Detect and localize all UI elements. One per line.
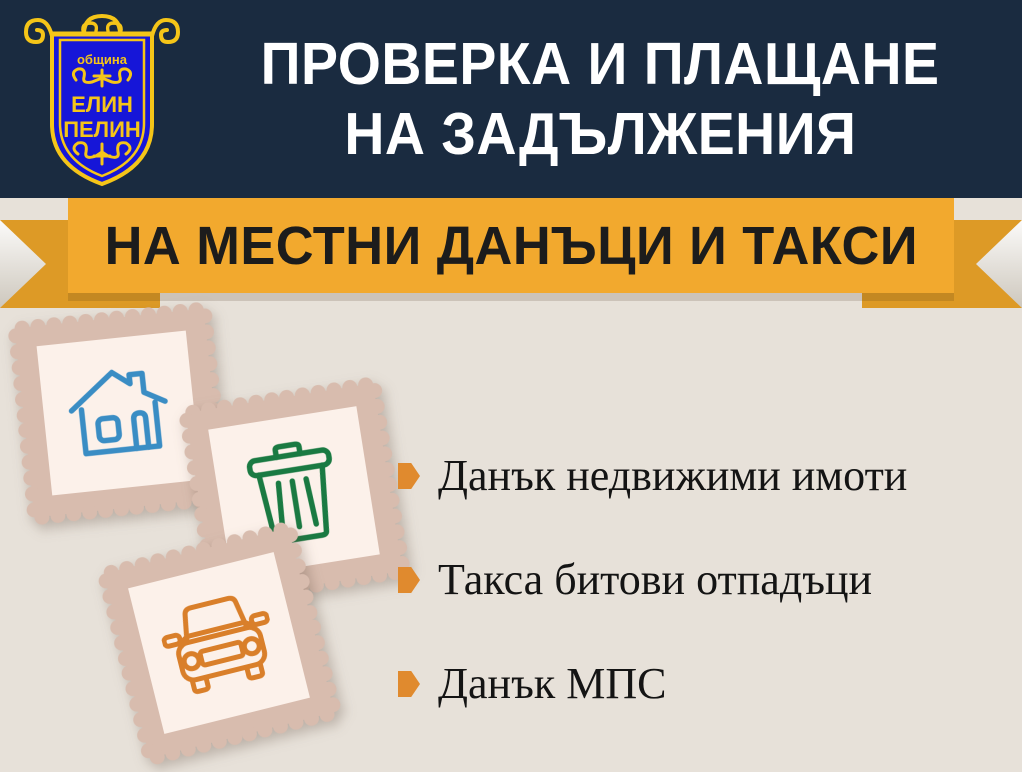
stamp-scallop bbox=[304, 619, 322, 637]
ribbon-label: НА МЕСТНИ ДАНЪЦИ И ТАКСИ bbox=[104, 215, 917, 277]
stamp-scallop bbox=[341, 378, 358, 395]
stamp-scallop bbox=[319, 680, 337, 698]
stamp-scallop bbox=[30, 318, 46, 334]
stamp-scallop bbox=[371, 566, 388, 583]
stamp-inner-house bbox=[37, 331, 202, 496]
stamp-scallop bbox=[371, 414, 388, 431]
stamp-scallop bbox=[216, 398, 233, 415]
stamp-scallop bbox=[160, 495, 176, 511]
stamp-scallop bbox=[278, 388, 295, 405]
stamp-scallop bbox=[100, 588, 118, 606]
stamp-scallop bbox=[315, 665, 333, 683]
stamp-scallop bbox=[123, 680, 141, 698]
stamp-scallop bbox=[179, 739, 197, 757]
stamp-scallop bbox=[93, 311, 109, 327]
stamp-scallop bbox=[198, 324, 214, 340]
stamp-scallop bbox=[133, 555, 151, 573]
stamp-scallop bbox=[187, 301, 203, 317]
stamp-scallop bbox=[149, 551, 167, 569]
list-item-label: Такса битови отпадъци bbox=[438, 558, 872, 602]
stamp-scallop bbox=[7, 328, 23, 344]
stamp-scallop bbox=[355, 569, 372, 586]
stamp-scallop bbox=[368, 398, 385, 415]
stamp-scallop bbox=[194, 736, 212, 754]
stamp-scallop bbox=[373, 429, 390, 446]
stamp-scallop bbox=[324, 574, 341, 591]
stamp-scallop bbox=[164, 743, 182, 761]
stamp-scallop bbox=[12, 375, 28, 391]
subtitle-ribbon: НА МЕСТНИ ДАНЪЦИ И ТАКСИ bbox=[0, 198, 1022, 308]
stamp-scallop bbox=[17, 423, 33, 439]
stamp-scallop bbox=[247, 393, 264, 410]
stamp-scallop bbox=[113, 500, 129, 516]
stamp-scallop bbox=[22, 470, 38, 486]
logo-municipality-word: община bbox=[77, 52, 128, 67]
stamp-scallop bbox=[120, 665, 138, 683]
stamp-scallop bbox=[179, 544, 197, 562]
stamp-scallop bbox=[210, 732, 228, 750]
stamp-scallop bbox=[104, 603, 122, 621]
stamp-scallop bbox=[10, 360, 26, 376]
stamp-scallop bbox=[199, 340, 215, 356]
stamp-scallop bbox=[61, 314, 77, 330]
stamp-scallop bbox=[14, 391, 30, 407]
stamp-scallop bbox=[50, 507, 66, 523]
stamp-scallop bbox=[15, 407, 31, 423]
stamp-scallop bbox=[164, 547, 182, 565]
stamp-scallop bbox=[81, 503, 97, 519]
stamp-scallop bbox=[176, 493, 192, 509]
stamp-scallop bbox=[287, 713, 305, 731]
house-icon bbox=[62, 360, 175, 466]
stamp-scallop bbox=[118, 559, 136, 577]
list-item-label: Данък недвижими имоти bbox=[438, 454, 907, 498]
stamp-scallop bbox=[46, 316, 62, 332]
municipality-logo: община ЕЛИН ПЕЛИН bbox=[22, 6, 182, 192]
stamp-scallop bbox=[231, 396, 248, 413]
stamp-scallop bbox=[172, 303, 188, 319]
stamp-scallop bbox=[376, 445, 393, 462]
stamp-scallop bbox=[380, 476, 397, 493]
stamp-scallop bbox=[203, 371, 219, 387]
service-list: Данък недвижими имоти Такса битови отпад… bbox=[398, 424, 1012, 736]
stamp-scallop bbox=[271, 717, 289, 735]
stamp-scallop bbox=[378, 461, 395, 478]
poster-header: община ЕЛИН ПЕЛИН ПРОВЕРКА И ПЛ bbox=[0, 0, 1022, 198]
stamp-scallop bbox=[25, 501, 41, 517]
list-item[interactable]: Такса битови отпадъци bbox=[398, 528, 1012, 632]
stamp-card-car bbox=[104, 528, 334, 758]
stamp-scallop bbox=[195, 522, 212, 539]
stamp-scallop bbox=[9, 344, 25, 360]
title-line-1: ПРОВЕРКА И ПЛАЩАНЕ bbox=[261, 30, 940, 100]
stamp-scallop bbox=[131, 711, 149, 729]
stamp-scallop bbox=[225, 728, 243, 746]
poster-title: ПРОВЕРКА И ПЛАЩАНЕ НА ЗАДЪЛЖЕНИЯ bbox=[186, 16, 1014, 184]
stamp-scallop bbox=[66, 505, 82, 521]
stamp-scallop bbox=[108, 618, 126, 636]
stamp-scallop bbox=[310, 383, 327, 400]
stamp-scallop bbox=[201, 355, 217, 371]
stamp-scallop bbox=[300, 603, 318, 621]
stamp-scallop bbox=[312, 649, 330, 667]
stamp-scallop bbox=[308, 634, 326, 652]
list-item[interactable]: Данък МПС bbox=[398, 632, 1012, 736]
stamp-scallop bbox=[140, 306, 156, 322]
stamp-scallop bbox=[20, 454, 36, 470]
list-item-label: Данък МПС bbox=[438, 662, 666, 706]
stamp-scallop bbox=[109, 309, 125, 325]
logo-name-line1: ЕЛИН bbox=[71, 92, 133, 117]
ribbon-banner: НА МЕСТНИ ДАНЪЦИ И ТАКСИ bbox=[68, 198, 954, 293]
stamp-scallop bbox=[19, 438, 35, 454]
stamp-scallop bbox=[302, 709, 320, 727]
bullet-arrow-icon bbox=[398, 671, 420, 697]
stamp-scallop bbox=[135, 726, 153, 744]
stamp-scallop bbox=[339, 571, 356, 588]
title-line-2: НА ЗАДЪЛЖЕНИЯ bbox=[344, 100, 856, 170]
stamp-scallop bbox=[129, 498, 145, 514]
stamp-scallop bbox=[193, 506, 210, 523]
poster-root: община ЕЛИН ПЕЛИН ПРОВЕРКА И ПЛ bbox=[0, 0, 1022, 772]
stamp-scallop bbox=[263, 391, 280, 408]
stamp-scallop bbox=[241, 724, 259, 742]
list-item[interactable]: Данък недвижими имоти bbox=[398, 424, 1012, 528]
stamp-scallop bbox=[325, 381, 342, 398]
stamp-scallop bbox=[256, 720, 274, 738]
stamp-scallop bbox=[116, 649, 134, 667]
car-icon bbox=[155, 585, 284, 701]
bullet-arrow-icon bbox=[398, 463, 420, 489]
stamp-scallop bbox=[77, 313, 93, 329]
logo-name-line2: ПЕЛИН bbox=[63, 117, 141, 142]
stamp-scallop bbox=[97, 502, 113, 518]
bullet-arrow-icon bbox=[398, 567, 420, 593]
stamp-inner-car bbox=[128, 552, 310, 734]
stamp-scallop bbox=[24, 486, 40, 502]
stamp-scallop bbox=[294, 386, 311, 403]
stamp-scallop bbox=[124, 308, 140, 324]
stamp-scallop bbox=[127, 695, 145, 713]
stamp-scallop bbox=[112, 634, 130, 652]
stamp-scallop bbox=[144, 497, 160, 513]
